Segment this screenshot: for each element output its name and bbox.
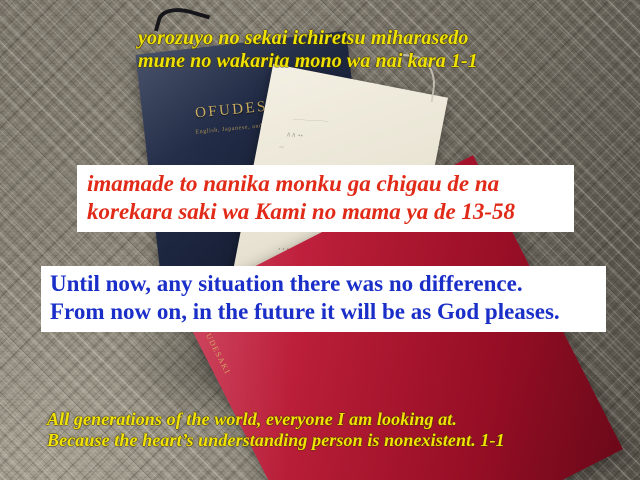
caption-middle-romaji-box: imamade to nanika monku ga chigau de na … <box>77 165 574 232</box>
caption-middle-translation-line2: From now on, in the future it will be as… <box>50 299 560 324</box>
notebook-scribble-3: ′′′ <box>279 145 284 153</box>
caption-middle-translation-box: Until now, any situation there was no di… <box>41 266 606 332</box>
caption-middle-romaji-line1: imamade to nanika monku ga chigau de na <box>87 171 499 196</box>
notebook-scribble-2: ∧∧ •• <box>286 130 304 140</box>
caption-middle-translation-line1: Until now, any situation there was no di… <box>50 271 523 296</box>
slide-canvas: OFUDESAKI English, Japanese, and Romaniz… <box>0 0 640 480</box>
caption-top-romaji-line2: mune no wakarita mono wa nai kara 1-1 <box>138 50 478 72</box>
caption-middle-romaji-line2: korekara saki wa Kami no mama ya de 13-5… <box>87 199 515 224</box>
caption-top-romaji: yorozuyo no sekai ichiretsu miharasedo m… <box>138 27 478 73</box>
caption-bottom-translation-line2: Because the heart’s understanding person… <box>47 430 505 450</box>
caption-bottom-translation: All generations of the world, everyone I… <box>47 409 505 451</box>
notebook-scribble-1: ————— <box>293 115 328 125</box>
caption-top-romaji-line1: yorozuyo no sekai ichiretsu miharasedo <box>138 27 469 49</box>
caption-bottom-translation-line1: All generations of the world, everyone I… <box>47 409 457 429</box>
